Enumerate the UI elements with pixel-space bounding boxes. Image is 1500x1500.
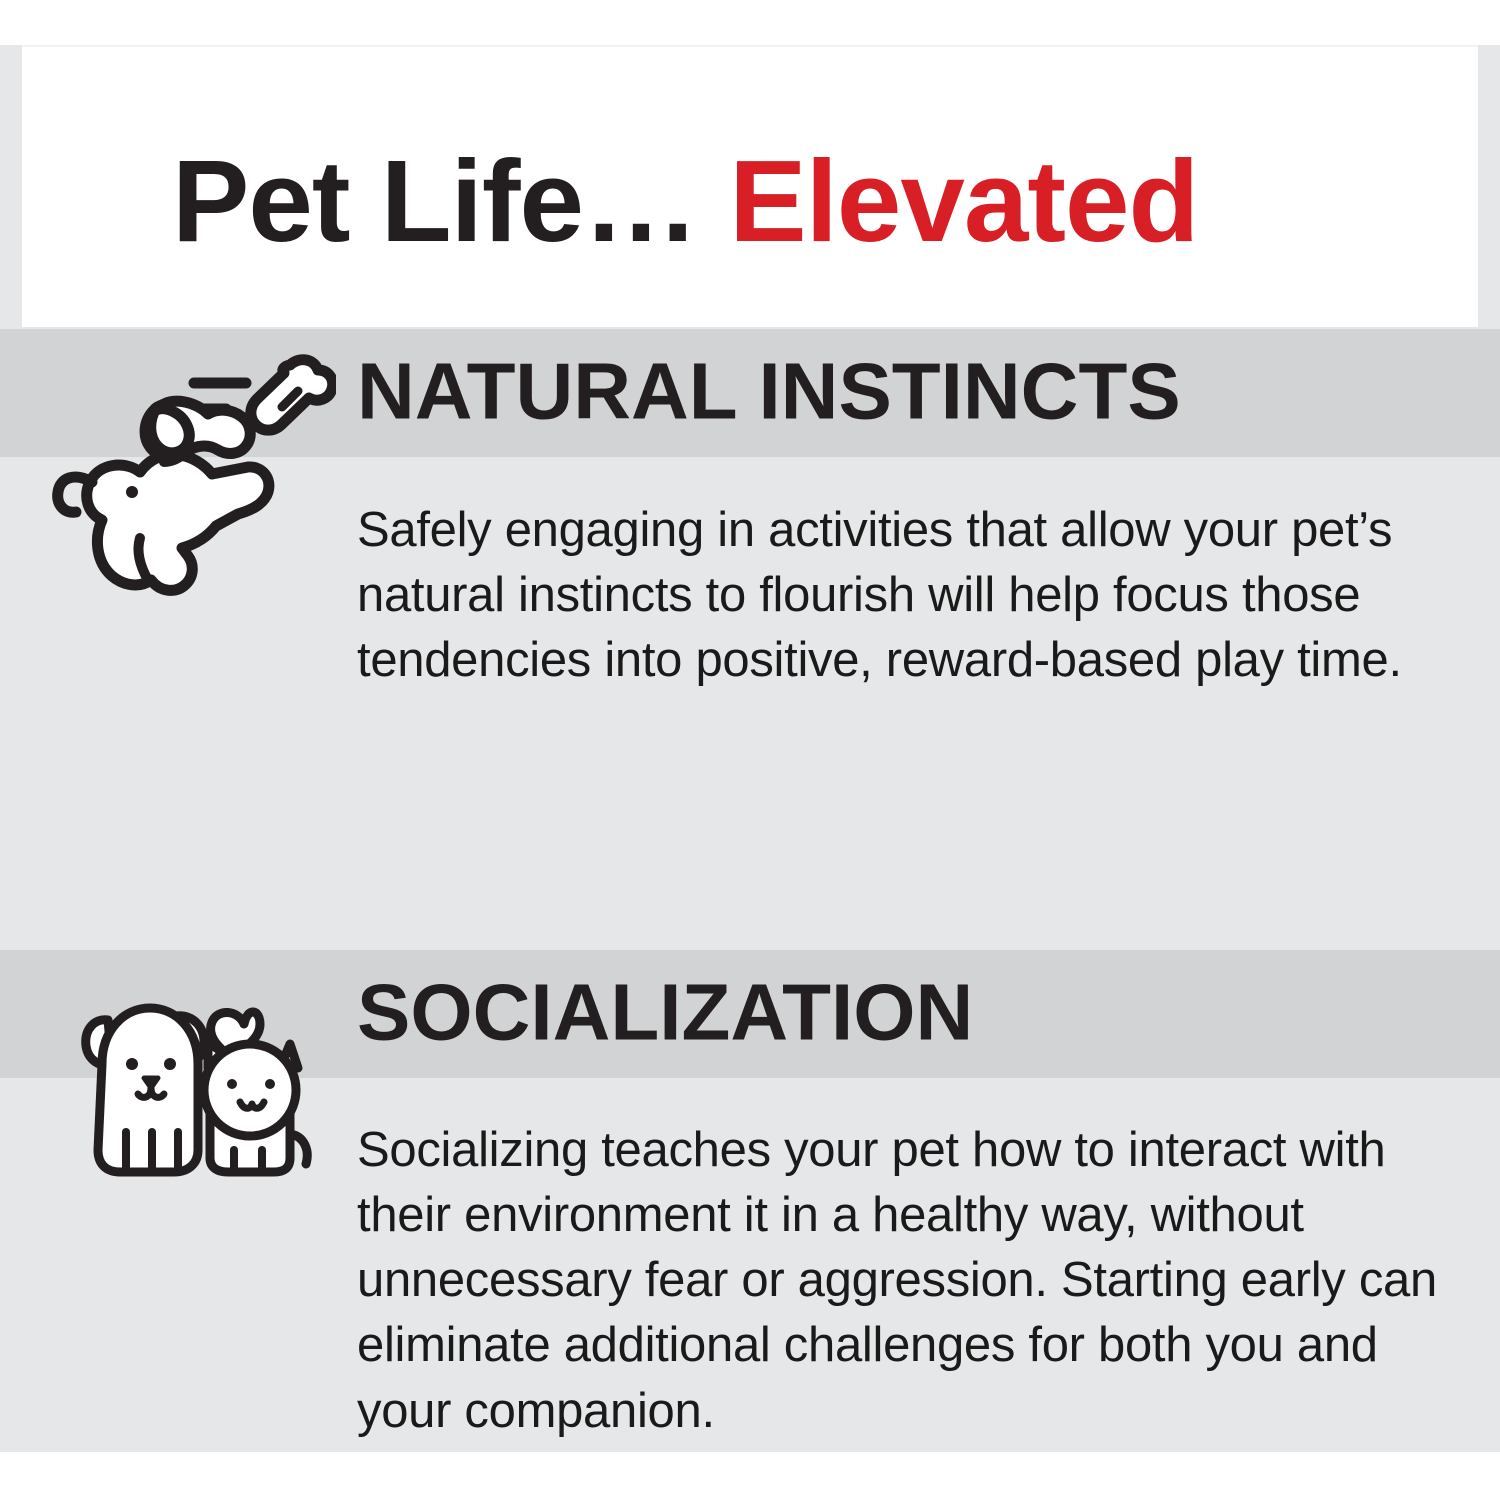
section-body-text: Safely engaging in activities that allow… (357, 498, 1417, 693)
section-body-natural-instincts: Safely engaging in activities that allow… (357, 498, 1417, 693)
brand-name-accent: Elevated (729, 136, 1198, 266)
section-title-natural-instincts: NATURAL INSTINCTS (357, 351, 1181, 431)
dog-catching-bone-icon (36, 352, 336, 614)
brand-lockup: Pet Life… Elevated (172, 143, 1198, 259)
infographic-page: Pet Life… Elevated NATURAL INSTINCTS (0, 0, 1500, 1500)
section-body-text: Socializing teaches your pet how to inte… (357, 1118, 1477, 1444)
brand-header-panel: Pet Life… Elevated (22, 45, 1478, 329)
section-body-socialization: Socializing teaches your pet how to inte… (357, 1118, 1477, 1444)
section-title-socialization: SOCIALIZATION (357, 972, 973, 1052)
dog-and-cat-with-heart-icon (58, 972, 340, 1188)
brand-name-primary: Pet Life… (172, 136, 698, 266)
